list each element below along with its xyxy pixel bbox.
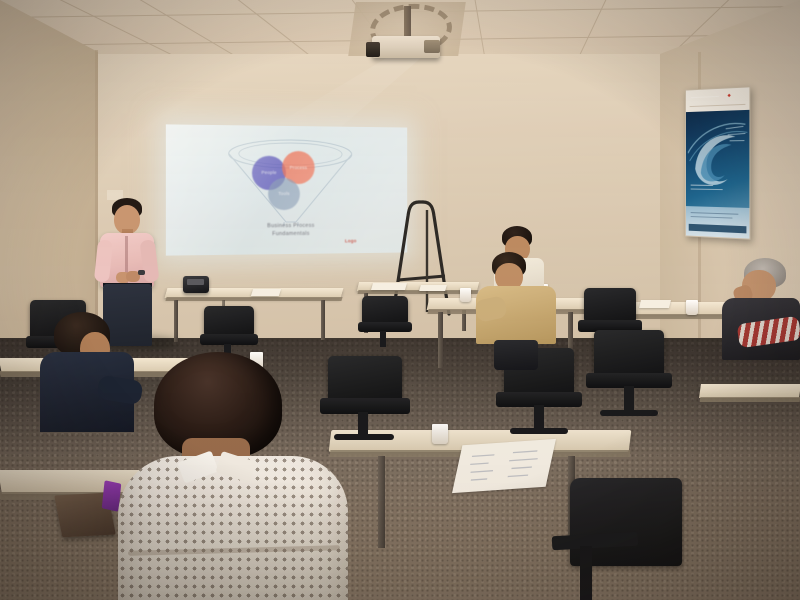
projection-screen: People Process Tools Business Process Fu…: [166, 124, 407, 255]
chair-base: [600, 410, 658, 416]
attendee-foreground: [118, 352, 348, 600]
table-leg: [438, 312, 443, 368]
table-edge: [700, 397, 800, 402]
poster-logo-icon: ◆: [728, 92, 731, 97]
projector-vent: [424, 40, 440, 53]
attendee-right-senior: [714, 258, 800, 374]
wave-swirl-icon: [688, 114, 748, 208]
chair-foreground-right: [552, 478, 682, 600]
poster-footer: [686, 206, 749, 239]
attendee-mid-tan-legs: [494, 340, 538, 370]
presenter-wristwatch: [138, 270, 145, 275]
chair-back: [594, 330, 664, 376]
conference-phone: [183, 276, 209, 293]
table-edge: [165, 297, 342, 301]
table-leg: [378, 456, 385, 548]
classroom-photo: People Process Tools Business Process Fu…: [0, 0, 800, 600]
handout-paper-foreground: [452, 439, 556, 493]
paper-cup: [432, 424, 448, 444]
paper-on-right-table: [639, 300, 671, 308]
screen-glare: [166, 124, 407, 255]
chair-base: [510, 428, 568, 434]
chair-back: [362, 296, 408, 324]
chair-post: [580, 546, 592, 600]
table-leg: [321, 300, 325, 340]
projector-lens-icon: [366, 42, 380, 57]
paper-on-back-right-table: [371, 283, 407, 290]
wall-poster: ◆: [685, 86, 750, 239]
poster-header: [686, 87, 749, 112]
table-leg: [174, 300, 178, 342]
handout-text-lines: [452, 439, 556, 493]
paper-cup: [686, 300, 698, 315]
paper-cup: [460, 288, 471, 302]
chair-right-lower: [586, 330, 672, 430]
table-right-far: [700, 384, 800, 454]
chair-back: [584, 288, 636, 322]
chair-front-right: [358, 296, 412, 354]
table-top: [699, 384, 800, 398]
paper-on-front-table: [251, 289, 281, 296]
chair-post: [380, 331, 386, 347]
attendee-mid-tan: [476, 252, 558, 356]
phone-screen: [187, 279, 204, 285]
paper-on-back-right-table: [419, 285, 447, 291]
chair-back: [204, 306, 254, 336]
